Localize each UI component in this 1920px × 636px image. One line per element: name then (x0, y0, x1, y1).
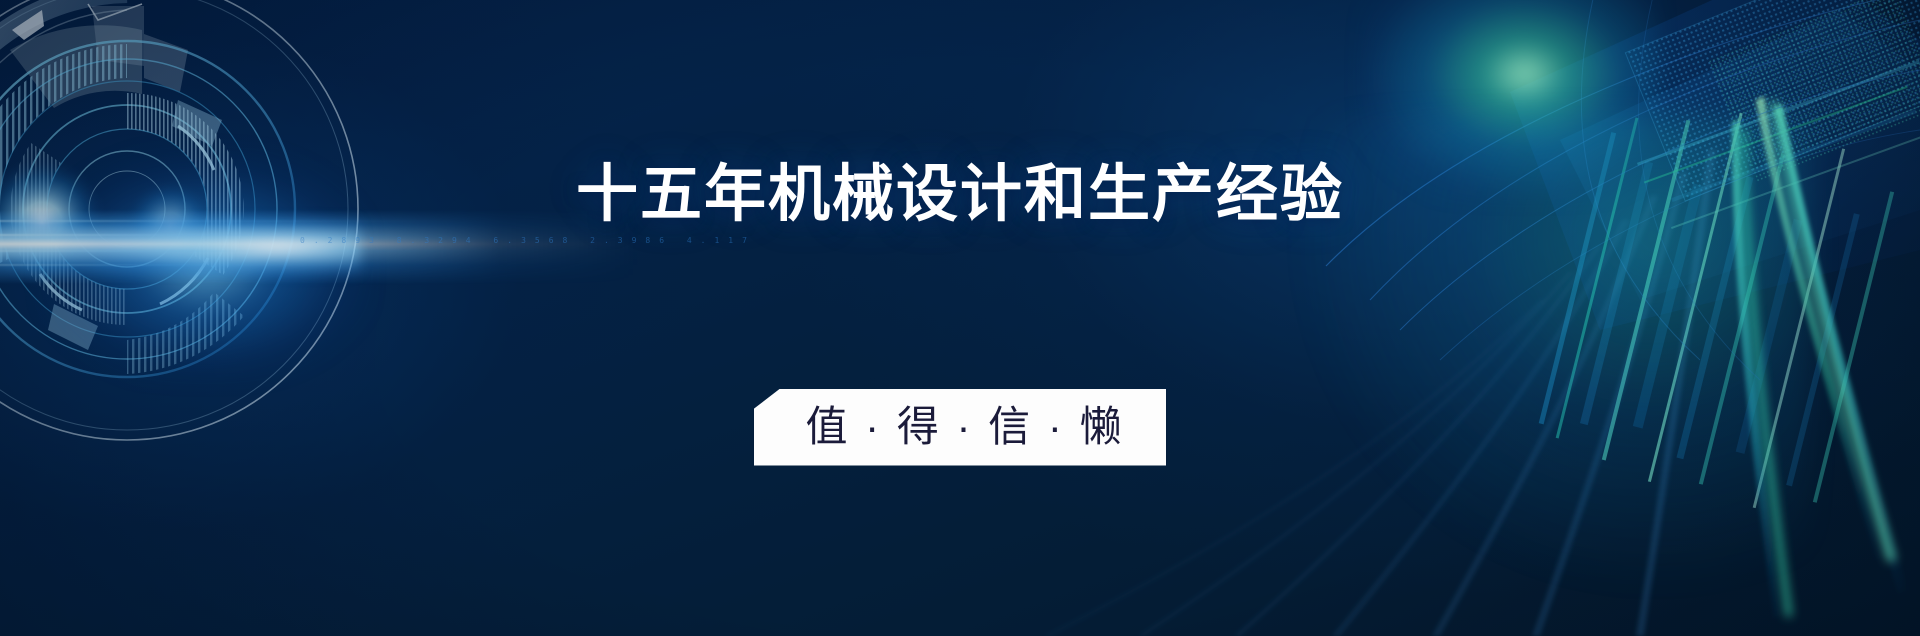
circuit-tech-graphic (1040, 0, 1920, 636)
circuit-scene-svg (1040, 0, 1920, 636)
tagline-container: 值 · 得 · 信 · 懒 (0, 389, 1920, 466)
hero-banner: 0.2893 8.3294 6.3568 2.3986 4.117 十五年机械设… (0, 0, 1920, 636)
page-title: 十五年机械设计和生产经验 (0, 160, 1920, 229)
tagline-text: 值 · 得 · 信 · 懒 (806, 402, 1125, 452)
tagline-box: 值 · 得 · 信 · 懒 (754, 389, 1167, 466)
micro-readout: 0.2893 8.3294 6.3568 2.3986 4.117 (300, 236, 770, 248)
